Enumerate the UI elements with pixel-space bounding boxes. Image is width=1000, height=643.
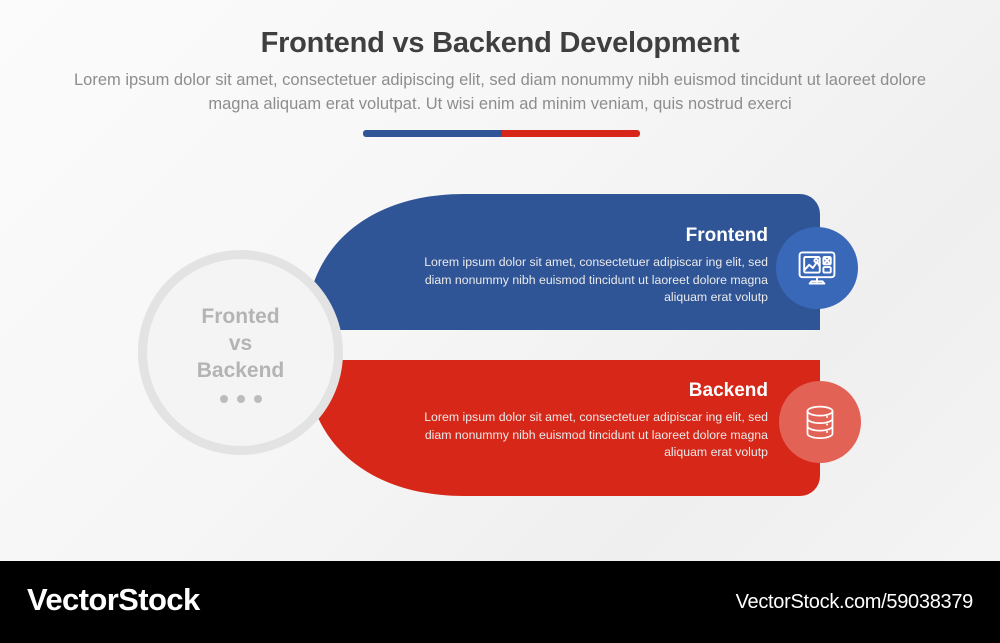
- panel-frontend-heading: Frontend: [418, 225, 768, 247]
- monitor-wireframe-icon: [795, 246, 839, 290]
- footer-bar: VectorStock VectorStock.com/59038379: [0, 561, 1000, 643]
- footer-logo: VectorStock: [27, 582, 200, 618]
- artboard: Frontend vs Backend Development Lorem ip…: [0, 0, 1000, 561]
- panel-frontend[interactable]: Frontend Lorem ipsum dolor sit amet, con…: [298, 192, 828, 340]
- infographic-canvas: Frontend vs Backend Development Lorem ip…: [0, 0, 1000, 643]
- accent-segment-red: [502, 130, 641, 137]
- accent-divider-bar: [363, 130, 640, 137]
- dot-icon: [237, 395, 245, 403]
- center-node-line-1: Fronted: [201, 303, 279, 330]
- panel-frontend-text: Frontend Lorem ipsum dolor sit amet, con…: [418, 225, 768, 307]
- page-title: Frontend vs Backend Development: [0, 27, 1000, 60]
- panel-backend-heading: Backend: [418, 380, 768, 402]
- footer-url: VectorStock.com/59038379: [736, 591, 973, 614]
- dot-icon: [254, 395, 262, 403]
- panel-backend[interactable]: Backend Lorem ipsum dolor sit amet, cons…: [289, 350, 829, 498]
- page-subtitle: Lorem ipsum dolor sit amet, consectetuer…: [50, 68, 950, 116]
- panel-frontend-description: Lorem ipsum dolor sit amet, consectetuer…: [418, 254, 768, 307]
- panel-backend-description: Lorem ipsum dolor sit amet, consectetuer…: [418, 409, 768, 462]
- database-stack-icon: [800, 402, 840, 442]
- panel-backend-text: Backend Lorem ipsum dolor sit amet, cons…: [418, 380, 768, 462]
- center-node-line-2: vs: [229, 330, 252, 357]
- center-node[interactable]: Fronted vs Backend: [138, 250, 343, 455]
- badge-frontend[interactable]: [776, 227, 858, 309]
- center-node-dots: [220, 395, 262, 403]
- accent-segment-blue: [363, 130, 502, 137]
- center-node-line-3: Backend: [197, 357, 285, 384]
- dot-icon: [220, 395, 228, 403]
- badge-backend[interactable]: [779, 381, 861, 463]
